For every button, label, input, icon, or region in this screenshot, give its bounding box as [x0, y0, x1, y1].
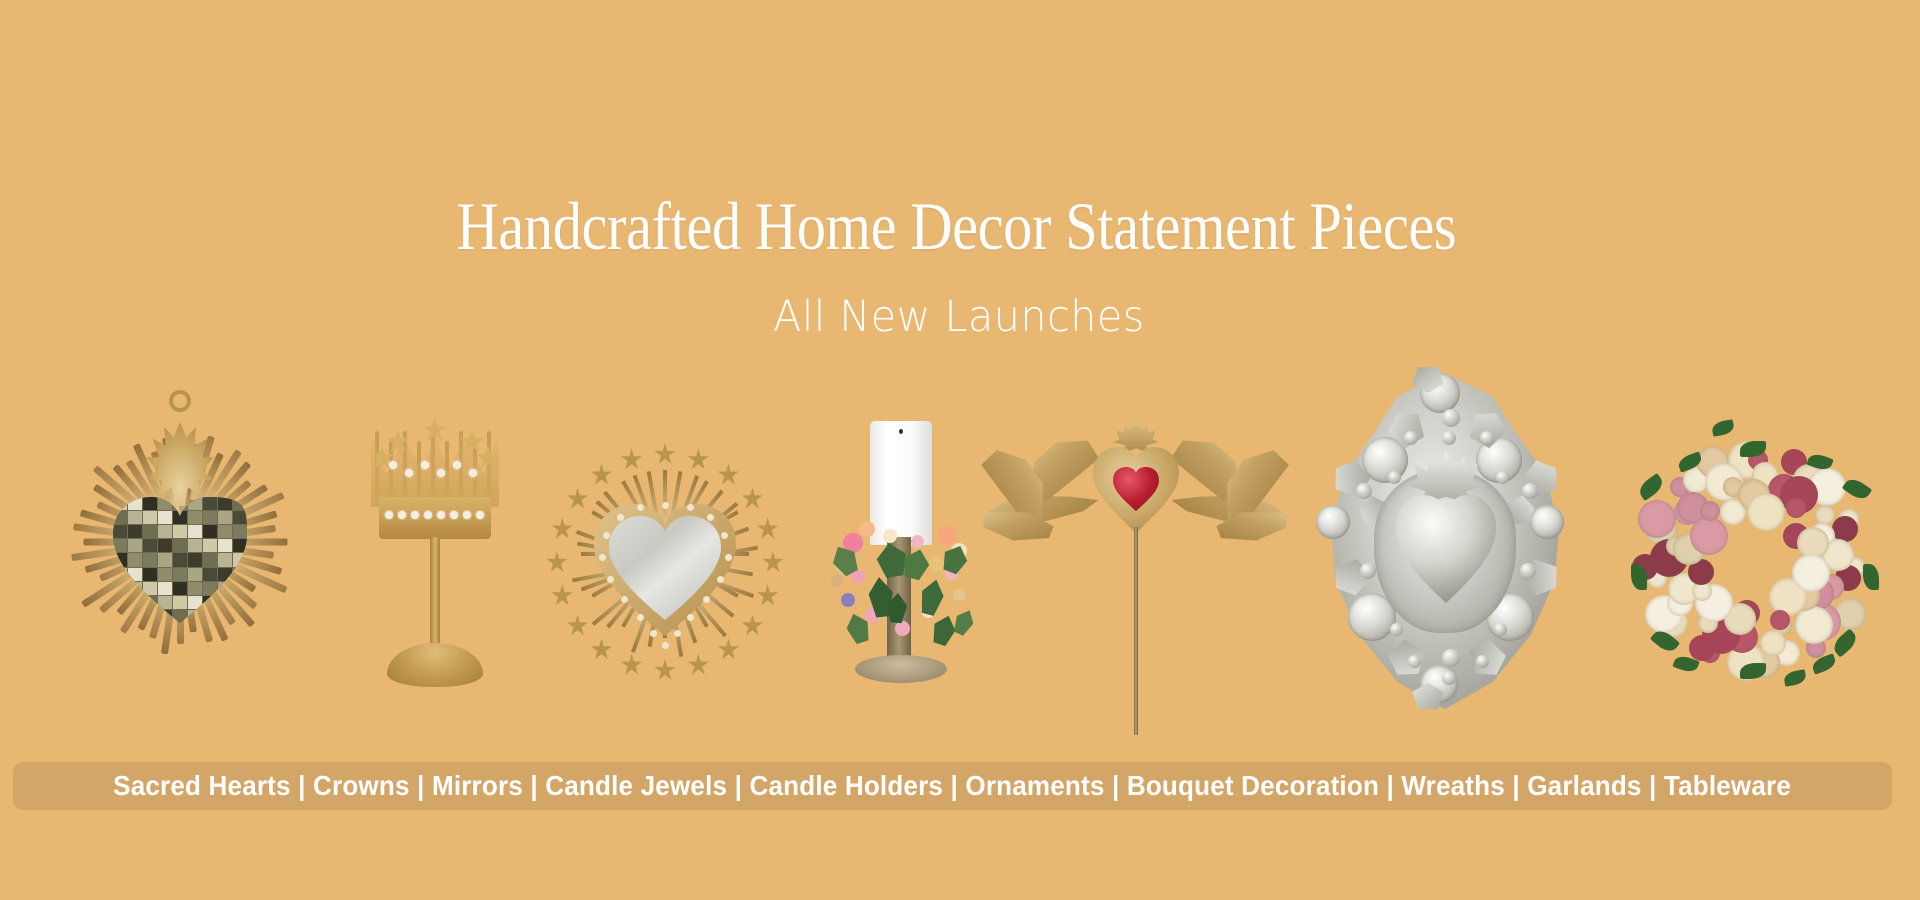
stake-rod — [1134, 527, 1138, 735]
bead — [1494, 623, 1507, 636]
category-list-text: Sacred Hearts | Crowns | Mirrors | Candl… — [114, 770, 1792, 802]
jewel — [437, 511, 445, 519]
leaf — [1863, 564, 1879, 590]
frame-stud — [599, 554, 606, 561]
star-icon — [717, 638, 739, 660]
star-icon — [621, 448, 643, 470]
product-floral-metal-wreath[interactable] — [1608, 419, 1898, 701]
page-title: Handcrafted Home Decor Statement Pieces — [131, 192, 1782, 260]
flower — [859, 521, 875, 537]
jewel — [469, 469, 477, 477]
flower — [895, 621, 910, 636]
page-subtitle: All New Launches — [37, 292, 1880, 342]
bead — [1522, 483, 1538, 499]
frame-stud — [725, 554, 732, 561]
jewel — [476, 511, 484, 519]
flower — [1815, 505, 1835, 525]
star-icon — [654, 659, 676, 681]
crown-stem — [430, 537, 440, 649]
frame-stud — [717, 576, 724, 583]
bead — [1442, 671, 1456, 685]
bead — [1390, 623, 1403, 636]
star-icon — [741, 614, 763, 636]
product-gold-sunburst-sacred-heart[interactable] — [30, 385, 330, 715]
category-bar[interactable]: Sacred Hearts | Crowns | Mirrors | Candl… — [13, 762, 1892, 810]
rosette — [1316, 505, 1350, 539]
flower — [1792, 554, 1830, 592]
flower — [883, 529, 897, 543]
frame-stud — [662, 502, 669, 509]
frame-stud — [637, 614, 644, 621]
jewel — [437, 469, 445, 477]
star-icon — [762, 551, 784, 573]
jewel — [411, 511, 419, 519]
star-icon — [741, 488, 763, 510]
frame-stud — [637, 504, 644, 511]
product-heart-starburst-mirror[interactable] — [540, 417, 790, 707]
star-icon — [757, 584, 779, 606]
leaf — [1783, 669, 1807, 687]
rosette — [1530, 505, 1564, 539]
bead — [1442, 409, 1460, 427]
frame-stud — [650, 630, 657, 637]
bead — [1480, 431, 1494, 445]
star-icon — [687, 448, 709, 470]
jewel — [385, 511, 393, 519]
bead — [1404, 431, 1418, 445]
star-icon — [757, 518, 779, 540]
bead — [1388, 471, 1401, 484]
bead — [1476, 655, 1489, 668]
bead — [1442, 431, 1456, 445]
product-floral-candle-holder[interactable] — [825, 417, 975, 717]
crown-band — [379, 497, 491, 539]
star-icon — [687, 654, 709, 676]
star-icon — [567, 488, 589, 510]
flower — [1638, 500, 1676, 538]
candle-holder-base — [855, 655, 947, 683]
star-icon — [654, 443, 676, 465]
star-icon — [717, 464, 739, 486]
bead — [1442, 649, 1460, 667]
product-silver-sacred-heart-plaque[interactable] — [1300, 365, 1590, 717]
jewel — [421, 461, 429, 469]
star-icon — [551, 518, 573, 540]
flower — [929, 557, 944, 572]
frame-stud — [687, 614, 694, 621]
flower — [911, 535, 924, 548]
pillar-candle — [870, 421, 932, 545]
flower — [831, 575, 843, 587]
jewel — [389, 461, 397, 469]
product-strip — [0, 345, 1920, 735]
frame-stud — [621, 596, 628, 603]
frame-stud — [707, 514, 714, 521]
wreath-ring — [1608, 419, 1898, 701]
product-gold-crown-on-stand[interactable] — [355, 415, 515, 725]
bead — [1360, 563, 1376, 579]
flower — [937, 525, 957, 545]
star-icon — [591, 464, 613, 486]
bead — [1520, 563, 1536, 579]
frame-stud — [721, 532, 728, 539]
leaf — [1711, 419, 1735, 437]
crown-base — [387, 643, 483, 687]
frame-stud — [674, 630, 681, 637]
star-icon — [546, 551, 568, 573]
frame-stud — [617, 514, 624, 521]
leaf — [1842, 475, 1872, 503]
jewel — [424, 511, 432, 519]
jewel — [453, 461, 461, 469]
jewel — [463, 511, 471, 519]
star-icon — [567, 614, 589, 636]
bead — [1356, 483, 1372, 499]
jewel — [398, 511, 406, 519]
star-icon — [591, 638, 613, 660]
leaf — [1636, 473, 1666, 501]
leaf — [950, 606, 978, 637]
frame-stud — [603, 532, 610, 539]
star-icon — [621, 654, 643, 676]
bead — [1496, 471, 1509, 484]
jewel — [450, 511, 458, 519]
product-bird-heart-stake-ornament[interactable] — [975, 415, 1295, 735]
jewel — [405, 469, 413, 477]
flower — [1832, 516, 1858, 542]
flower — [1690, 517, 1728, 555]
frame-stud — [687, 504, 694, 511]
flower — [841, 593, 855, 607]
flower — [1760, 630, 1786, 656]
promo-banner: Handcrafted Home Decor Statement Pieces … — [0, 0, 1920, 900]
star-icon — [551, 584, 573, 606]
bead — [1408, 655, 1421, 668]
hanging-ring-icon — [169, 390, 191, 412]
candle-wick-icon — [899, 429, 903, 434]
flower — [1747, 493, 1785, 531]
flower — [953, 589, 965, 601]
frame-stud — [607, 576, 614, 583]
frame-stud — [662, 642, 669, 649]
flower — [1795, 606, 1833, 644]
flower — [1786, 498, 1806, 518]
frame-stud — [703, 596, 710, 603]
